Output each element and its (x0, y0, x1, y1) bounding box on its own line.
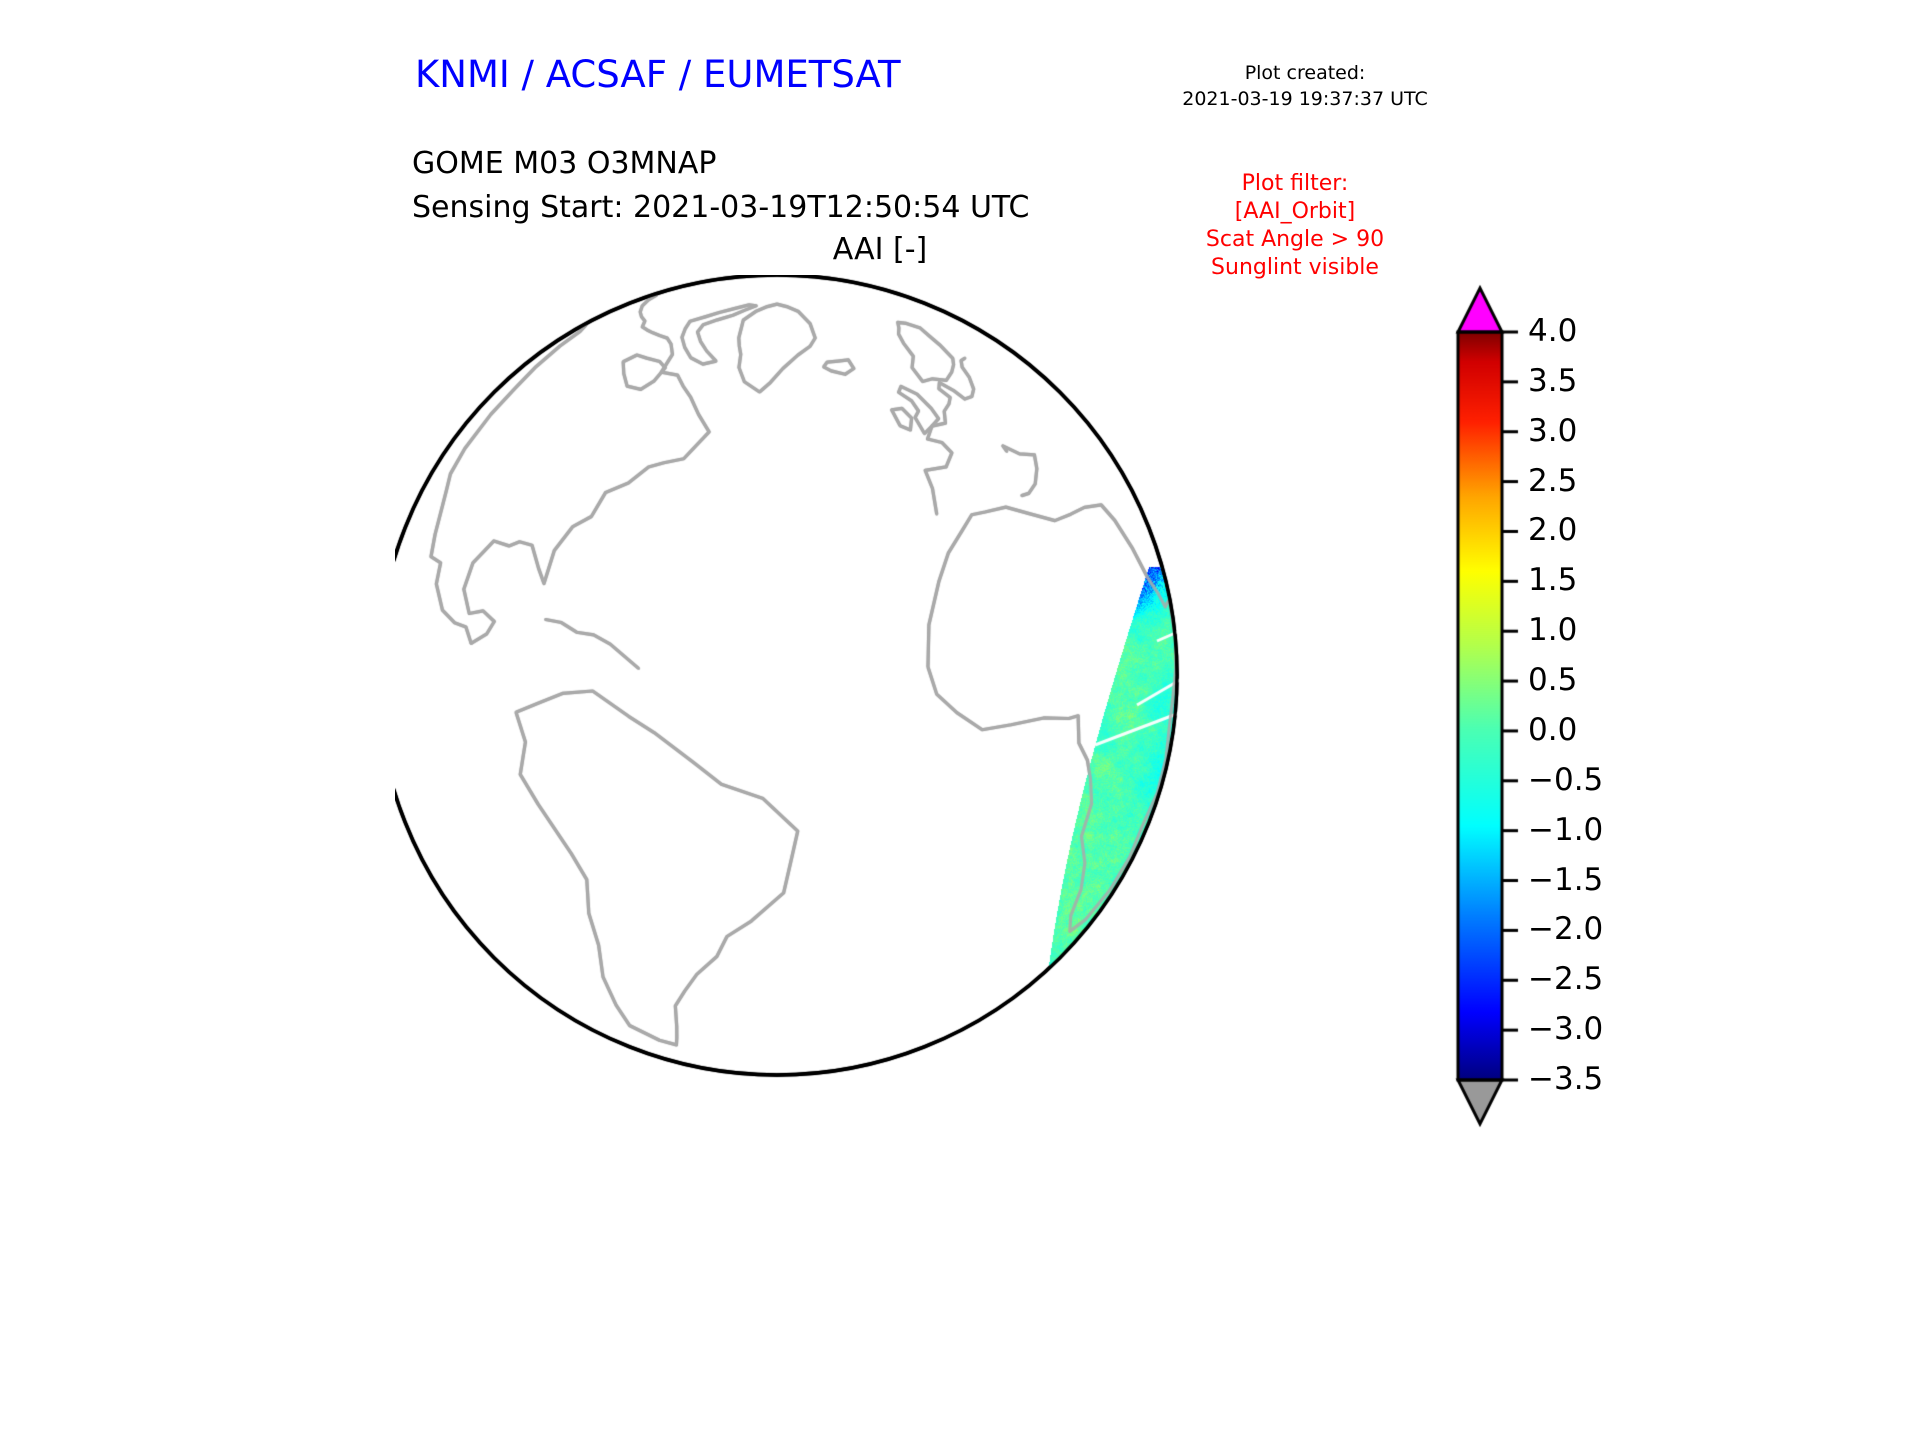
colorbar-tick-label: −1.5 (1528, 865, 1603, 896)
colorbar-tick-label: 2.0 (1528, 515, 1577, 546)
colorbar-tick-label: 0.0 (1528, 715, 1577, 746)
plot-created-block: Plot created: 2021-03-19 19:37:37 UTC (1160, 60, 1450, 112)
colorbar-tick-label: −2.5 (1528, 964, 1603, 995)
plot-filter-line-0: Plot filter: (1140, 170, 1450, 198)
plot-created-time: 2021-03-19 19:37:37 UTC (1160, 86, 1450, 112)
colorbar-tick-label: −3.0 (1528, 1014, 1603, 1045)
agency-title: KNMI / ACSAF / EUMETSAT (415, 53, 901, 96)
colorbar-tick-label: −1.0 (1528, 815, 1603, 846)
product-block: GOME M03 O3MNAP Sensing Start: 2021-03-1… (412, 142, 1029, 230)
colorbar-tick-label: 4.0 (1528, 316, 1577, 347)
globe-map (395, 275, 1415, 1340)
plot-filter-line-2: Scat Angle > 90 (1140, 226, 1450, 254)
colorbar-tick-label: −3.5 (1528, 1064, 1603, 1095)
plot-filter-block: Plot filter: [AAI_Orbit] Scat Angle > 90… (1140, 170, 1450, 282)
plot-page: KNMI / ACSAF / EUMETSAT Plot created: 20… (0, 0, 1920, 1440)
sensing-start-line: Sensing Start: 2021-03-19T12:50:54 UTC (412, 186, 1029, 230)
aai-swath-canvas (395, 275, 1415, 1340)
plot-created-label: Plot created: (1160, 60, 1450, 86)
plot-filter-line-1: [AAI_Orbit] (1140, 198, 1450, 226)
colorbar-tick-label: 3.5 (1528, 366, 1577, 397)
colorbar-tick-label: −2.0 (1528, 914, 1603, 945)
colorbar-tick-label: −0.5 (1528, 765, 1603, 796)
colorbar: 4.03.53.02.52.01.51.00.50.0−0.5−1.0−1.5−… (1440, 280, 1740, 1360)
colorbar-tick-label: 1.5 (1528, 565, 1577, 596)
colorbar-tick-label: 0.5 (1528, 665, 1577, 696)
colorbar-tick-label: 3.0 (1528, 416, 1577, 447)
instrument-line: GOME M03 O3MNAP (412, 142, 1029, 186)
colorbar-tick-label: 2.5 (1528, 466, 1577, 497)
colorbar-tick-label: 1.0 (1528, 615, 1577, 646)
quantity-title: AAI [-] (640, 232, 1120, 267)
